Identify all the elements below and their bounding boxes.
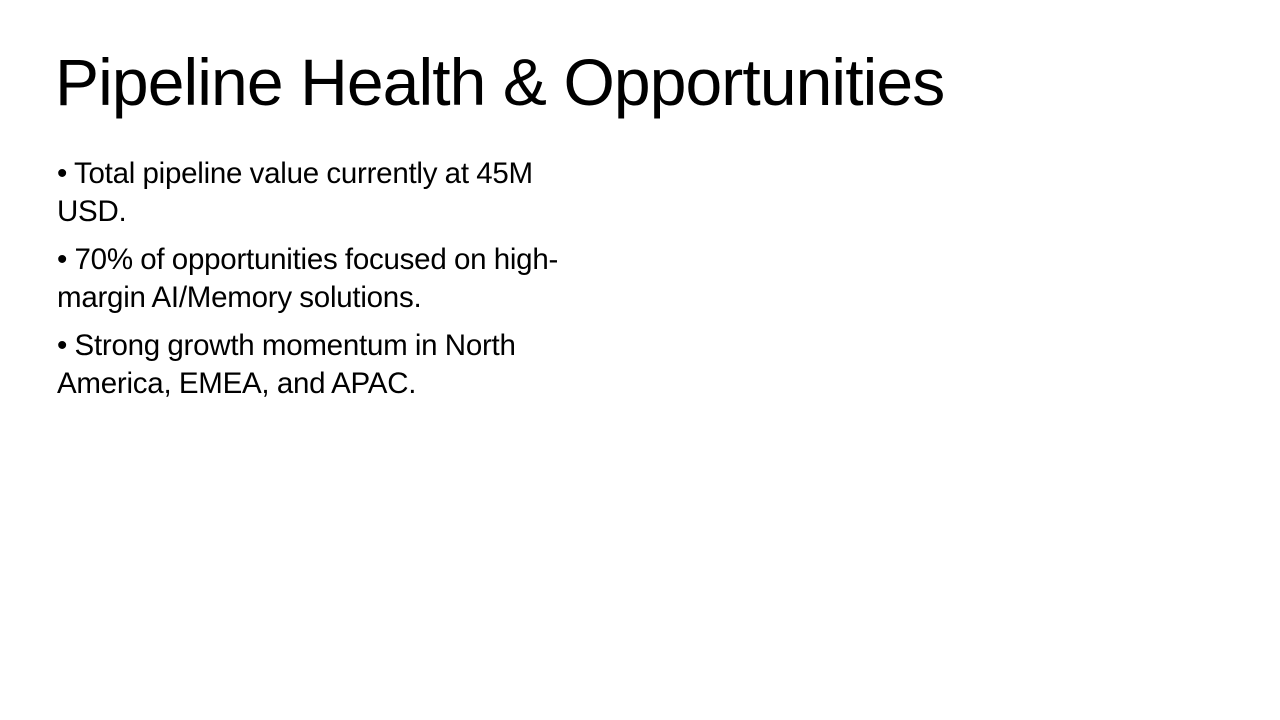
bullet-point-icon: •: [57, 157, 67, 190]
page-title: Pipeline Health & Opportunities: [55, 48, 1155, 118]
bullet-point-icon: •: [57, 243, 67, 276]
list-item-text: Strong growth momentum in North America,…: [57, 329, 516, 400]
list-item: • Total pipeline value currently at 45M …: [57, 155, 562, 231]
list-item: • 70% of opportunities focused on high-m…: [57, 241, 562, 317]
list-item-text: Total pipeline value currently at 45M US…: [57, 157, 533, 228]
bullet-list: • Total pipeline value currently at 45M …: [57, 155, 562, 403]
slide-canvas: Pipeline Health & Opportunities • Total …: [0, 0, 1280, 720]
list-item: • Strong growth momentum in North Americ…: [57, 327, 562, 403]
list-item-text: 70% of opportunities focused on high-mar…: [57, 243, 558, 314]
bullet-point-icon: •: [57, 329, 67, 362]
